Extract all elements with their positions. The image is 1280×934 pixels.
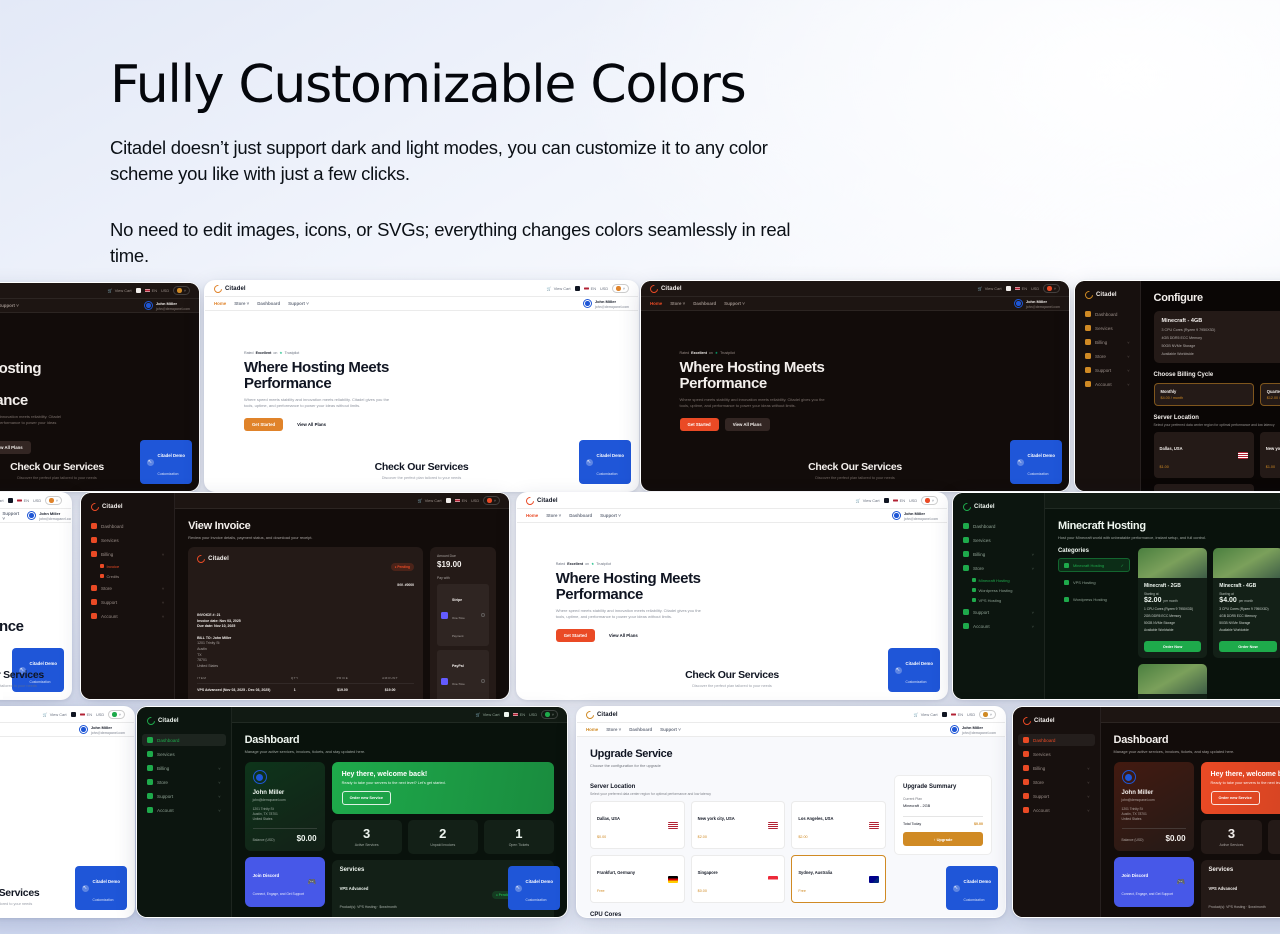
view-cart-button[interactable]: 🛒View Cart xyxy=(476,712,500,717)
sidebar-item-label: Services xyxy=(1033,752,1051,757)
location-option[interactable]: Dallas, USA$0.00 xyxy=(590,801,685,849)
citadel-demo-button[interactable]: ↖ Citadel DemoCustomization xyxy=(508,866,560,910)
nav-item-home[interactable]: Home xyxy=(214,301,226,306)
stat-value: 1 xyxy=(488,827,550,840)
invoice-due-date: Due date: Nov 10, 2025 xyxy=(197,624,414,630)
sidebar-item-store[interactable]: Store ˅ xyxy=(958,562,1039,574)
nav-item-store[interactable]: Store ˅ xyxy=(234,301,249,306)
citadel-crescent-logo xyxy=(89,501,100,512)
location-name: Frankfurt, Germany xyxy=(597,870,635,875)
screenshot-invoice-dark-red[interactable]: Citadel Dashboard Services Billing ˅Invo… xyxy=(80,492,510,700)
theme-toggle-icon[interactable] xyxy=(71,712,76,717)
services-title: Check Our Services xyxy=(641,461,1069,473)
power-avatar-icon xyxy=(583,299,592,308)
user-menu[interactable]: ˅ xyxy=(921,496,938,505)
sidebar-item-store[interactable]: Store ˅ xyxy=(86,582,169,594)
language-selector[interactable]: EN xyxy=(455,498,467,503)
main-nav: HomeStore ˅DashboardSupport ˅ John Mille… xyxy=(0,723,134,737)
user-chip[interactable]: John Millerjohn@demopanel.com xyxy=(1014,299,1060,309)
welcome-banner: Hey there, welcome back! Ready to take y… xyxy=(1201,762,1280,814)
main-nav: HomeStore ˅DashboardSupport ˅ John Mille… xyxy=(0,509,71,523)
screenshot-landing-light-orange[interactable]: Citadel 🛒View Cart EN USD ˅ HomeStore ˅D… xyxy=(204,280,639,492)
nav-item-support[interactable]: Support ˅ xyxy=(288,301,309,306)
services-panel: Services + VPS AdvancedProduct(s): VPS H… xyxy=(1201,860,1280,917)
upgrade-button[interactable]: ↑ Upgrade xyxy=(903,832,983,846)
method-name: PayPal xyxy=(452,664,464,668)
flag-icon xyxy=(584,287,589,291)
nav-item-support[interactable]: Support ˅ xyxy=(600,513,621,518)
column-header: AMOUNT xyxy=(366,676,414,680)
nav-item-support[interactable]: Support ˅ xyxy=(2,511,19,521)
total-value: $0.00 xyxy=(974,822,983,826)
rating-on: on xyxy=(273,351,277,355)
hero-copy: Rated Excellent on ★ Trustpilot Where Ho… xyxy=(680,351,873,431)
nav-item-home[interactable]: Home xyxy=(526,513,538,518)
language-selector[interactable]: EN xyxy=(584,286,596,291)
trustpilot-rating: Rated Excellent on ★ Trustpilot xyxy=(556,562,750,566)
chevron-down-icon: ˅ xyxy=(1087,794,1089,799)
sidebar-item-label: Account xyxy=(973,624,990,629)
screenshot-landing-dark-red[interactable]: Citadel 🛒View Cart EN USD ˅ HomeStore ˅D… xyxy=(640,280,1070,492)
amount-due-label: Amount Due xyxy=(437,554,489,558)
category-item[interactable]: VPS Hosting xyxy=(1058,575,1130,589)
sidebar-item-support[interactable]: Support ˅ xyxy=(142,790,226,802)
nav-item-dashboard[interactable]: Dashboard xyxy=(569,513,592,518)
avatar xyxy=(177,288,182,293)
power-avatar-icon xyxy=(892,511,901,520)
location-name: New york city, USA xyxy=(698,816,735,821)
user-menu[interactable]: ˅ xyxy=(45,496,62,505)
sidebar-item-dashboard[interactable]: Dashboard xyxy=(142,734,226,746)
user-menu[interactable]: ˅ xyxy=(541,710,558,719)
theme-toggle-icon[interactable] xyxy=(1006,286,1011,291)
user-menu[interactable]: ˅ xyxy=(612,284,629,293)
sidebar-item-billing[interactable]: Billing ˅ xyxy=(958,548,1039,560)
sidebar: Citadel Dashboard Services Billing ˅ Sto… xyxy=(953,493,1045,699)
payment-option[interactable]: StripeOne-Time Payment xyxy=(437,584,489,646)
rating-brand: Trustpilot xyxy=(720,351,735,355)
landing-page: Citadel 🛒View Cart EN USD ˅ HomeStore ˅D… xyxy=(0,493,71,699)
theme-toggle-icon[interactable] xyxy=(8,498,13,503)
view-cart-button[interactable]: 🛒View Cart xyxy=(108,288,132,293)
location-option[interactable]: Sydney, AustraliaFree xyxy=(791,855,886,903)
join-discord-card[interactable]: Join DiscordConnect, Engage, and Get Sup… xyxy=(1114,857,1194,907)
balance-row: Balance (USD) $0.00 xyxy=(1122,828,1186,843)
user-chip[interactable]: John Millerjohn@demopanel.com xyxy=(27,511,71,521)
brand[interactable]: Citadel xyxy=(650,285,682,293)
sidebar-item-services[interactable]: Services xyxy=(1080,322,1135,334)
grid-icon xyxy=(91,523,97,529)
flag-icon xyxy=(869,876,879,883)
chevron-down-icon: ˅ xyxy=(623,286,625,291)
nav-item-home[interactable]: Home xyxy=(650,301,662,306)
dot-icon xyxy=(100,574,104,578)
stat-label: Open Tickets xyxy=(488,843,550,847)
screenshot-partial-light-left[interactable]: Citadel 🛒View Cart EN USD ˅ HomeStore ˅D… xyxy=(0,492,72,700)
radio-button[interactable] xyxy=(481,613,485,618)
services-title: Services xyxy=(1209,867,1234,873)
language-selector[interactable]: EN xyxy=(951,712,963,717)
theme-toggle-icon[interactable] xyxy=(575,286,580,291)
sidebar-item-services[interactable]: Services xyxy=(958,534,1039,546)
rating-prefix: Rated xyxy=(556,562,566,566)
hero-title: Where Hosting Meets Performance xyxy=(0,361,68,409)
server-icon xyxy=(1085,325,1091,331)
get-started-button[interactable]: Get Started xyxy=(556,629,595,642)
sidebar-item-store[interactable]: Store ˅ xyxy=(1080,350,1135,362)
theme-toggle-icon[interactable] xyxy=(504,712,509,717)
cell-item: VPS Advanced (Nov 03, 2025 - Dec 03, 202… xyxy=(197,688,271,692)
sidebar-item-services[interactable]: Services xyxy=(1018,748,1095,760)
topbar-actions: 🛒View Cart EN USD ˅ xyxy=(418,496,500,505)
grid-icon xyxy=(147,737,153,743)
currency-selector[interactable]: USD xyxy=(909,498,917,503)
check-services-section: Check Our Services Discover the perfect … xyxy=(0,461,199,480)
location-option[interactable]: Frankfurt, GermanyFree xyxy=(1154,484,1254,491)
sidebar-item-account[interactable]: Account ˅ xyxy=(1080,378,1135,390)
services-title: Check Our Services xyxy=(517,669,947,681)
invoice-lede: Review your invoice details, payment sta… xyxy=(188,535,496,540)
column-header: PRICE xyxy=(319,676,367,680)
brand[interactable]: Citadel xyxy=(958,500,1039,518)
join-discord-card[interactable]: Join DiscordConnect, Engage, and Get Sup… xyxy=(245,857,325,907)
power-avatar-icon xyxy=(1122,770,1136,784)
user-name: John Miller xyxy=(904,511,925,516)
location-name: Los Angeles, USA xyxy=(798,816,833,821)
welcome-title: Hey there, welcome back! xyxy=(342,771,544,778)
currency-selector[interactable]: USD xyxy=(161,288,169,293)
user-menu[interactable]: ˅ xyxy=(979,710,996,719)
cart-icon: 🛒 xyxy=(978,286,983,291)
user-chip[interactable]: John Millerjohn@demopanel.com xyxy=(79,725,125,735)
user-chip[interactable]: John Millerjohn@demopanel.com xyxy=(950,725,996,735)
nav-item-support[interactable]: Support ˅ xyxy=(0,303,19,308)
flag-icon xyxy=(145,289,150,293)
sidebar-subitem[interactable]: Wordpress Hosting xyxy=(958,586,1039,594)
view-all-plans-button[interactable]: View All Plans xyxy=(289,418,334,431)
brand-name: Citadel xyxy=(225,286,246,292)
avatar xyxy=(49,498,54,503)
user-email: john@demopanel.com xyxy=(156,307,190,311)
profile-name: John Miller xyxy=(1122,790,1186,796)
language-selector[interactable]: EN xyxy=(17,498,29,503)
view-cart-button[interactable]: 🛒View Cart xyxy=(418,498,442,503)
sidebar-item-dashboard[interactable]: Dashboard xyxy=(1018,734,1095,746)
brand[interactable]: Citadel xyxy=(86,500,169,518)
billing-cycle-option[interactable]: Monthly $4.00 / month xyxy=(1154,383,1254,406)
location-option[interactable]: Los Angeles, USA$2.00 xyxy=(791,801,886,849)
location-option[interactable]: New york city, USA$1.00 xyxy=(1260,432,1280,478)
chevron-down-icon: ˅ xyxy=(1127,354,1129,359)
sidebar-item-support[interactable]: Support ˅ xyxy=(1018,790,1095,802)
sidebar-item-account[interactable]: Account ˅ xyxy=(1018,804,1095,816)
view-all-plans-button[interactable]: View All Plans xyxy=(725,418,770,431)
rating-prefix: Rated xyxy=(244,351,254,355)
rating-word: Excellent xyxy=(567,562,583,566)
invoice-layout: Citadel ● Pending INV. #0000 INVOICE #: … xyxy=(188,547,496,699)
sidebar-item-label: Services xyxy=(973,538,991,543)
brand[interactable]: Citadel xyxy=(1080,288,1135,306)
flag-icon xyxy=(668,822,678,829)
sidebar-item-label: Dashboard xyxy=(973,524,995,529)
user-menu[interactable]: ˅ xyxy=(483,496,500,505)
citadel-crescent-logo xyxy=(584,709,595,720)
hero-title-line1: Where Hosting Meets xyxy=(556,570,701,587)
currency-selector[interactable]: USD xyxy=(529,712,537,717)
nav-item-support[interactable]: Support ˅ xyxy=(660,727,681,732)
sidebar-item-support[interactable]: Support ˅ xyxy=(1080,364,1135,376)
language-selector[interactable]: EN xyxy=(80,712,92,717)
location-option[interactable]: Frankfurt, GermanyFree xyxy=(590,855,685,903)
sidebar-item-label: Support xyxy=(101,600,117,605)
view-all-plans-button[interactable]: View All Plans xyxy=(0,441,31,454)
screenshot-dashboard-dark-green[interactable]: Citadel Dashboard Services Billing ˅ Sto… xyxy=(136,706,568,918)
sidebar-item-dashboard[interactable]: Dashboard xyxy=(1080,308,1135,320)
citadel-demo-button[interactable]: ↖ Citadel DemoCustomization xyxy=(946,866,998,910)
payment-option[interactable]: PayPalOne-Time Payment xyxy=(437,650,489,699)
sidebar-item-account[interactable]: Account ˅ xyxy=(86,610,169,622)
lifebuoy-icon xyxy=(1023,793,1029,799)
sidebar-item-support[interactable]: Support ˅ xyxy=(86,596,169,608)
plan-price: $4.00 per month xyxy=(1219,597,1276,604)
theme-toggle-icon[interactable] xyxy=(446,498,451,503)
brand[interactable]: Citadel xyxy=(586,711,618,719)
hero-buttons: Get Started View All Plans xyxy=(680,418,873,431)
sidebar-item-label: Services xyxy=(101,538,119,543)
upgrade-body: Upgrade Service Choose the configuration… xyxy=(577,737,1005,917)
rating-word: Excellent xyxy=(691,351,707,355)
screenshot-landing-light-green[interactable]: Citadel 🛒View Cart EN USD ˅ HomeStore ˅D… xyxy=(0,706,135,918)
welcome-banner: Hey there, welcome back! Ready to take y… xyxy=(332,762,554,814)
sidebar-item-store[interactable]: Store ˅ xyxy=(142,776,226,788)
amount-due-value: $19.00 xyxy=(437,560,489,569)
view-cart-button[interactable]: 🛒View Cart xyxy=(547,286,571,291)
nav-item-dashboard[interactable]: Dashboard xyxy=(629,727,652,732)
server-location-title: Server Location xyxy=(1154,415,1280,421)
screenshot-landing-dark-amber[interactable]: Citadel 🛒View Cart EN USD ˅ HomeStore ˅D… xyxy=(0,282,200,492)
power-avatar-icon xyxy=(27,511,36,520)
get-started-button[interactable]: Get Started xyxy=(680,418,719,431)
plan-thumbnail xyxy=(1138,548,1207,578)
avatar xyxy=(925,498,930,503)
sidebar-item-label: Dashboard xyxy=(157,738,179,743)
language-selector[interactable]: EN xyxy=(893,498,905,503)
billing-cycle-option[interactable]: Quarterly $12.00 / quarter xyxy=(1260,383,1280,406)
order-now-button[interactable]: Order Now xyxy=(1144,641,1201,652)
user-name: John Miller xyxy=(91,725,112,730)
flag-icon xyxy=(768,876,778,883)
category-item[interactable]: Wordpress Hosting xyxy=(1058,592,1130,606)
brand[interactable]: Citadel xyxy=(1018,714,1095,732)
topbar-actions: 🛒View Cart EN USD ˅ xyxy=(914,710,996,719)
sidebar-subitem-invoice[interactable]: Invoice xyxy=(86,562,169,570)
user-menu[interactable]: ˅ xyxy=(108,710,125,719)
nav-item-support[interactable]: Support ˅ xyxy=(724,301,745,306)
sidebar-item-account[interactable]: Account ˅ xyxy=(958,620,1039,632)
view-cart-button[interactable]: 🛒View Cart xyxy=(914,712,938,717)
sidebar-item-support[interactable]: Support ˅ xyxy=(958,606,1039,618)
language-selector[interactable]: EN xyxy=(513,712,525,717)
location-option[interactable]: Dallas, USA$1.00 xyxy=(1154,432,1254,478)
brand[interactable]: Citadel xyxy=(214,285,246,293)
sidebar-subitem[interactable]: VPS Hosting xyxy=(958,596,1039,604)
topbar: Citadel 🛒View Cart EN USD ˅ xyxy=(0,493,71,509)
demo-subtitle: Customization xyxy=(526,898,547,902)
topbar-actions: 🛒View Cart EN USD ˅ xyxy=(978,284,1060,293)
hero-title: Where Hosting Meets Performance xyxy=(680,360,873,392)
nav-item-dashboard[interactable]: Dashboard xyxy=(693,301,716,306)
sidebar-subitem-credits[interactable]: Credits xyxy=(86,572,169,580)
chevron-down-icon: ˅ xyxy=(552,712,554,717)
sidebar-item-label: Services xyxy=(157,752,175,757)
theme-toggle-icon[interactable] xyxy=(136,288,141,293)
profile-card: John Miller john@demopanel.com 1201 Trin… xyxy=(245,762,325,851)
service-meta: Product(s): VPS Hosting · $xxx/month xyxy=(340,905,397,909)
card-icon xyxy=(147,765,153,771)
nav-item-store[interactable]: Store ˅ xyxy=(606,727,621,732)
user-chip[interactable]: John Millerjohn@demopanel.com xyxy=(583,299,629,309)
sidebar-item-billing[interactable]: Billing ˅ xyxy=(1080,336,1135,348)
nav-item-dashboard[interactable]: Dashboard xyxy=(257,301,280,306)
plan-name: Minecraft - 2GB xyxy=(1144,583,1201,589)
per-month-label: per month xyxy=(1163,599,1177,603)
category-item[interactable]: Minecraft Hosting✓ xyxy=(1058,558,1130,572)
sidebar-item-label: Dashboard xyxy=(1033,738,1055,743)
sidebar-item-dashboard[interactable]: Dashboard xyxy=(958,520,1039,532)
method-name: Stripe xyxy=(452,598,462,602)
get-started-button[interactable]: Get Started xyxy=(244,418,283,431)
hero-title: Where Hosting Meets Performance xyxy=(556,571,750,603)
sidebar-item-store[interactable]: Store ˅ xyxy=(1018,776,1095,788)
flag-icon xyxy=(80,713,85,717)
flag-icon xyxy=(455,499,460,503)
user-menu[interactable]: ˅ xyxy=(1043,284,1060,293)
plan-spec: 50GB NVMe Storage xyxy=(1144,621,1201,625)
order-now-button[interactable]: Order Now xyxy=(1219,641,1276,652)
currency-selector[interactable]: USD xyxy=(471,498,479,503)
chevron-down-icon: ˅ xyxy=(1127,340,1129,345)
sidebar-item-label: Billing xyxy=(101,552,113,557)
nav-item-store[interactable]: Store ˅ xyxy=(670,301,685,306)
user-email: john@demopanel.com xyxy=(1026,305,1060,309)
radio-button[interactable] xyxy=(481,679,485,684)
plan-spec: 50GB NVMe Storage xyxy=(1219,621,1276,625)
location-option[interactable]: New york city, USA$2.00 xyxy=(691,801,786,849)
bag-icon xyxy=(1023,779,1029,785)
currency-selector[interactable]: USD xyxy=(33,498,41,503)
user-chip[interactable]: John Millerjohn@demopanel.com xyxy=(892,511,938,521)
sidebar-subitem[interactable]: Minecraft Hosting xyxy=(958,576,1039,584)
plan-spec: 2GB DDR5 ECC Memory xyxy=(1144,614,1201,618)
order-new-service-button[interactable]: Order new Service xyxy=(342,791,391,805)
currency-selector[interactable]: USD xyxy=(967,712,975,717)
sidebar-item-services[interactable]: Services xyxy=(142,748,226,760)
screenshot-landing-light-red[interactable]: Citadel 🛒View Cart EN USD ˅ HomeStore ˅D… xyxy=(516,492,948,700)
topbar: 🛒View Cart EN USD ˅ xyxy=(1101,707,1280,723)
currency-selector[interactable]: USD xyxy=(96,712,104,717)
sidebar: Citadel Dashboard Services Billing ˅ Sto… xyxy=(1075,281,1141,491)
sidebar-item-billing[interactable]: Billing ˅ xyxy=(86,548,169,560)
view-cart-button[interactable]: 🛒View Cart xyxy=(43,712,67,717)
view-cart-button[interactable]: 🛒View Cart xyxy=(978,286,1002,291)
currency-selector[interactable]: USD xyxy=(600,286,608,291)
screenshot-upgrade-light-amber[interactable]: Citadel 🛒View Cart EN USD ˅ HomeStore ˅D… xyxy=(576,706,1006,918)
view-all-plans-button[interactable]: View All Plans xyxy=(601,629,646,642)
screenshot-dashboard-dark-red[interactable]: Citadel Dashboard Services Billing ˅ Sto… xyxy=(1012,706,1280,918)
landing-page: Citadel 🛒View Cart EN USD ˅ HomeStore ˅D… xyxy=(0,283,199,491)
check-services-section: Check Our Services Discover the perfect … xyxy=(517,669,947,688)
order-new-service-button[interactable]: Order new Service xyxy=(1211,791,1260,805)
demo-title: Citadel Demo xyxy=(964,879,991,884)
lifebuoy-icon xyxy=(147,793,153,799)
grid-icon xyxy=(963,523,969,529)
location-option[interactable]: Singapore$0.00 xyxy=(691,855,786,903)
sidebar-item-dashboard[interactable]: Dashboard xyxy=(86,520,169,532)
screenshot-configure-dark-amber[interactable]: Citadel Dashboard Services Billing ˅ Sto… xyxy=(1074,280,1280,492)
nav-item-home[interactable]: Home xyxy=(586,727,598,732)
demo-title: Citadel Demo xyxy=(158,453,185,458)
server-location-sub: Select your preferred data center region… xyxy=(1154,423,1280,427)
hero-buttons: Get Started View All Plans xyxy=(556,629,750,642)
view-cart-button[interactable]: 🛒View Cart xyxy=(856,498,880,503)
services-subtitle: Discover the perfect plan tailored to yo… xyxy=(0,684,71,688)
sidebar-item-label: Store xyxy=(157,780,168,785)
sidebar-item-account[interactable]: Account ˅ xyxy=(142,804,226,816)
citadel-crescent-logo xyxy=(524,495,535,506)
view-cart-button[interactable]: 🛒View Cart xyxy=(0,498,4,503)
sidebar-item-label: Dashboard xyxy=(1095,312,1117,317)
service-row: VPS AdvancedProduct(s): VPS Hosting · $x… xyxy=(1209,873,1280,917)
main-nav: HomeStore ˅DashboardSupport ˅ John Mille… xyxy=(641,297,1069,311)
flag-icon xyxy=(768,822,778,829)
sidebar-item-billing[interactable]: Billing ˅ xyxy=(1018,762,1095,774)
language-selector[interactable]: EN xyxy=(1015,286,1027,291)
language-selector[interactable]: EN xyxy=(145,288,157,293)
nav-item-store[interactable]: Store ˅ xyxy=(546,513,561,518)
user-menu[interactable]: ˅ xyxy=(173,286,190,295)
trustpilot-rating: Rated Excellent on ★ Trustpilot xyxy=(0,562,3,566)
demo-title: Citadel Demo xyxy=(1028,453,1055,458)
cycle-name: Quarterly xyxy=(1267,389,1280,394)
sidebar-item-label: Billing xyxy=(157,766,169,771)
theme-toggle-icon[interactable] xyxy=(942,712,947,717)
category-icon xyxy=(1064,563,1069,568)
sidebar-item-services[interactable]: Services xyxy=(86,534,169,546)
method-sub: One-Time Payment xyxy=(452,616,465,638)
location-price: $1.00 xyxy=(1266,465,1275,469)
citadel-crescent-logo xyxy=(212,283,223,294)
location-name: New york city, USA xyxy=(1266,446,1280,451)
starting-at-label: Starting at xyxy=(1144,592,1201,596)
invoice-document: Citadel ● Pending INV. #0000 INVOICE #: … xyxy=(188,547,423,699)
dot-icon xyxy=(972,578,976,582)
brand[interactable]: Citadel xyxy=(526,497,558,505)
user-chip[interactable]: John Millerjohn@demopanel.com xyxy=(144,301,190,311)
chevron-down-icon: ˅ xyxy=(1032,624,1034,629)
services-title: Check Our Services xyxy=(0,669,71,681)
sidebar-item-billing[interactable]: Billing ˅ xyxy=(142,762,226,774)
currency-selector[interactable]: USD xyxy=(1031,286,1039,291)
cell-price: $19.00 xyxy=(319,688,367,692)
plan-spec: Available Worldwide xyxy=(1144,628,1201,632)
demo-title: Citadel Demo xyxy=(93,879,120,884)
column-header: QTY xyxy=(271,676,319,680)
theme-toggle-icon[interactable] xyxy=(884,498,889,503)
brand[interactable]: Citadel xyxy=(142,714,226,732)
cart-icon: 🛒 xyxy=(914,712,919,717)
chevron-down-icon: ˅ xyxy=(1087,766,1089,771)
screenshot-minecraft-dark-green[interactable]: Citadel Dashboard Services Billing ˅ Sto… xyxy=(952,492,1280,700)
